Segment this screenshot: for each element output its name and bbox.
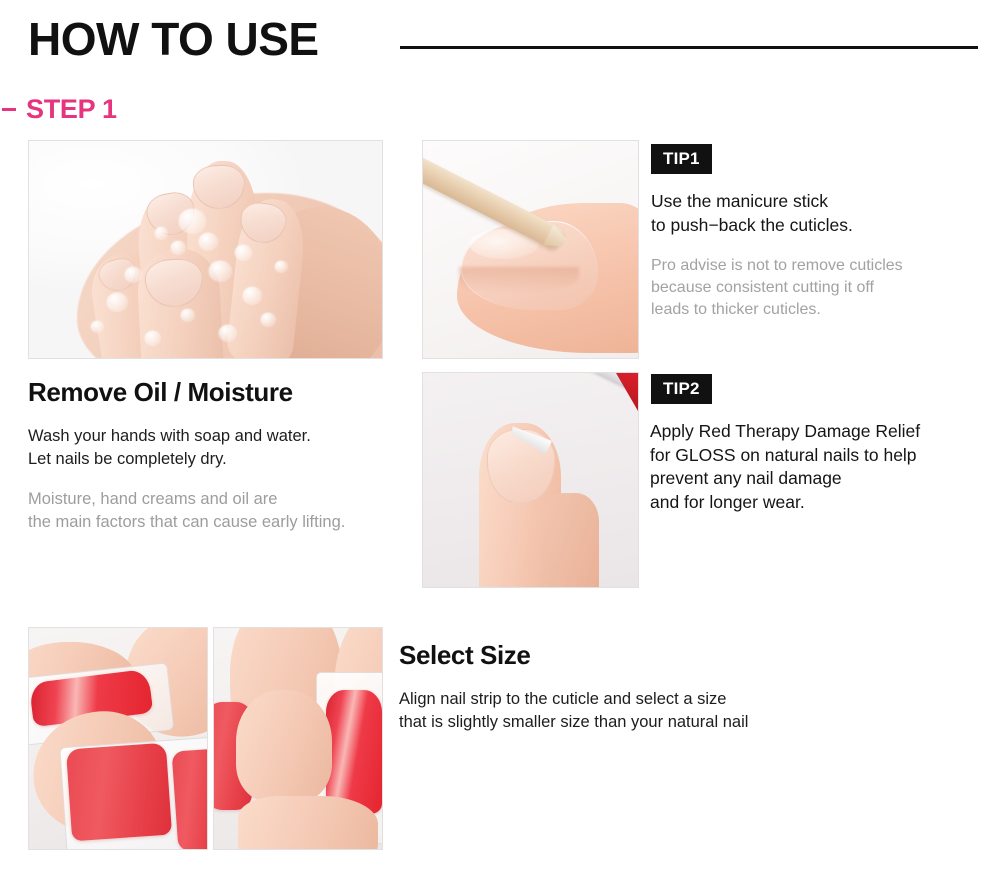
tip1-subtext-line: Pro advise is not to remove cuticles	[651, 255, 903, 277]
photo-soap-bubble	[91, 321, 103, 332]
tip2-heading-line: and for longer wear.	[650, 491, 920, 515]
header-divider-line	[400, 46, 978, 49]
nail-strip-align-photo	[28, 627, 208, 850]
step-dash-icon	[2, 108, 16, 111]
tip2-badge: TIP2	[651, 374, 712, 404]
photo-soap-bubble	[261, 313, 275, 326]
manicure-stick-photo	[422, 140, 639, 359]
photo-finger-shape	[236, 690, 332, 802]
remove-oil-note: Moisture, hand creams and oil are the ma…	[28, 488, 345, 535]
remove-oil-body: Wash your hands with soap and water. Let…	[28, 425, 311, 472]
soapy-fingers-photo	[28, 140, 383, 359]
gloss-brush-photo	[422, 372, 639, 588]
tip2-heading-line: for GLOSS on natural nails to help	[650, 444, 920, 468]
photo-soap-bubble	[179, 209, 205, 233]
step-label: STEP 1	[26, 96, 117, 123]
remove-oil-note-line: Moisture, hand creams and oil are	[28, 488, 345, 511]
photo-soap-bubble	[235, 245, 251, 260]
photo-soap-bubble	[209, 261, 231, 281]
photo-soap-bubble	[125, 267, 141, 282]
tip1-badge: TIP1	[651, 144, 712, 174]
photo-nail-strip	[172, 749, 207, 849]
photo-soap-bubble	[107, 293, 127, 311]
photo-scene	[29, 628, 207, 849]
photo-finger-shape	[541, 493, 599, 588]
tip1-subtext-line: because consistent cutting it off	[651, 277, 903, 299]
select-size-body-line: that is slightly smaller size than your …	[399, 711, 748, 734]
photo-soap-bubble	[275, 261, 287, 272]
photo-soap-bubble	[243, 287, 261, 304]
remove-oil-body-line: Let nails be completely dry.	[28, 448, 311, 471]
tip2-heading: Apply Red Therapy Damage Relief for GLOS…	[650, 420, 920, 515]
page-title: HOW TO USE	[28, 16, 319, 62]
tip1-subtext-line: leads to thicker cuticles.	[651, 299, 903, 321]
tip1-heading: Use the manicure stick to push−back the …	[651, 190, 853, 237]
remove-oil-heading: Remove Oil / Moisture	[28, 378, 293, 407]
how-to-use-page: HOW TO USE STEP 1	[0, 0, 1000, 872]
tip2-heading-line: prevent any nail damage	[650, 467, 920, 491]
nail-strip-select-photo	[213, 627, 383, 850]
photo-soap-bubble	[145, 331, 160, 345]
photo-nail-strip	[66, 743, 172, 842]
select-size-heading: Select Size	[399, 641, 530, 670]
select-size-body-line: Align nail strip to the cuticle and sele…	[399, 688, 748, 711]
photo-hand-shape	[238, 796, 378, 849]
photo-scene	[214, 628, 382, 849]
photo-soap-bubble	[155, 227, 167, 239]
photo-nail-strip	[326, 690, 382, 814]
photo-soap-bubble	[219, 325, 236, 341]
photo-soap-bubble	[199, 233, 217, 250]
tip1-heading-line: to push−back the cuticles.	[651, 214, 853, 238]
select-size-body: Align nail strip to the cuticle and sele…	[399, 688, 748, 735]
tip2-heading-line: Apply Red Therapy Damage Relief	[650, 420, 920, 444]
tip1-heading-line: Use the manicure stick	[651, 190, 853, 214]
tip1-subtext: Pro advise is not to remove cuticles bec…	[651, 255, 903, 321]
remove-oil-body-line: Wash your hands with soap and water.	[28, 425, 311, 448]
remove-oil-note-line: the main factors that can cause early li…	[28, 511, 345, 534]
photo-soap-bubble	[171, 241, 185, 254]
photo-soap-bubble	[181, 309, 194, 321]
